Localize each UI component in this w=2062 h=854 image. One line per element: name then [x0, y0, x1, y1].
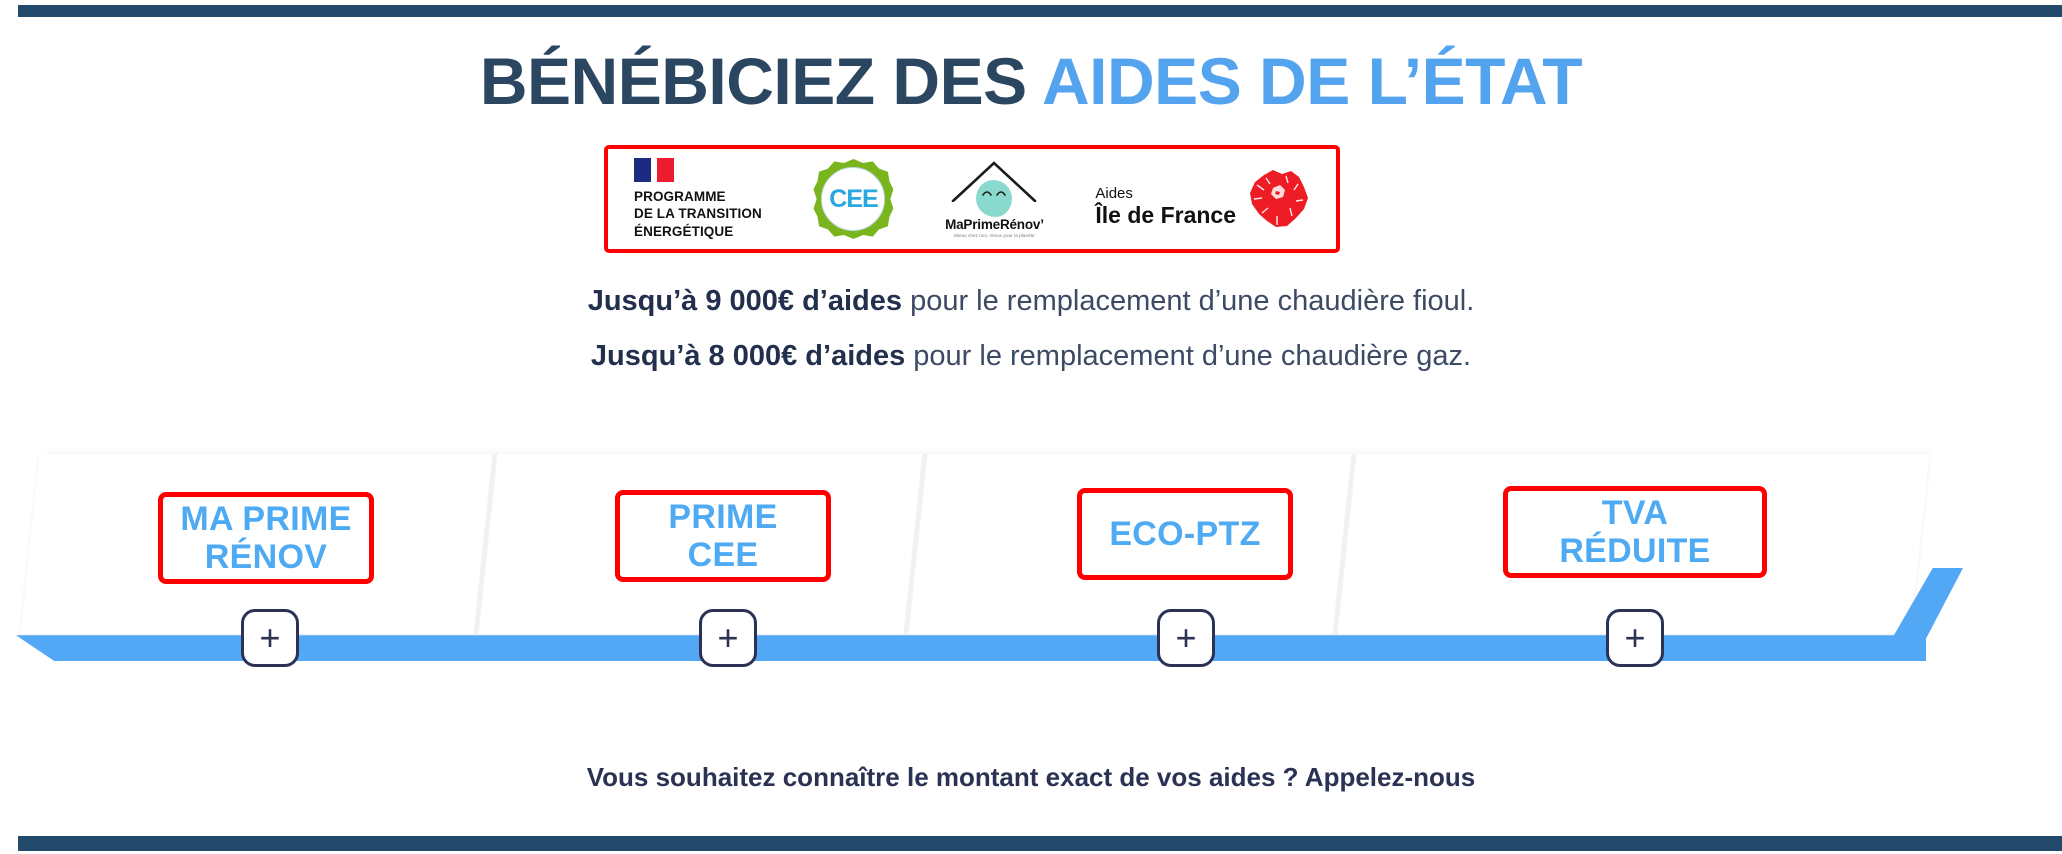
page-title-dark: BÉNÉBICIEZ DES — [480, 44, 1042, 118]
aid-card-ma-prime-renov[interactable]: MA PRIME RÉNOV — [158, 492, 374, 584]
plus-icon: + — [259, 620, 280, 656]
logo-programme-transition-energetique: PROGRAMME DE LA TRANSITION ÉNERGÉTIQUE — [634, 158, 762, 239]
aid-card-prime-cee[interactable]: PRIME CEE — [615, 490, 831, 582]
aid-line-fioul: Jusqu’à 9 000€ d’aides pour le remplacem… — [0, 285, 2062, 318]
logo-maprimerenov-name: MaPrimeRénov’ — [945, 217, 1044, 232]
aid-card-eco-ptz[interactable]: ECO-PTZ — [1077, 488, 1293, 580]
logo-maprimerenov-tagline: Mieux chez moi, mieux pour la planète — [954, 233, 1035, 238]
top-navy-rule — [18, 5, 2062, 17]
logo-idf-big: Île de France — [1095, 203, 1236, 228]
logo-programme-line2: DE LA TRANSITION — [634, 205, 762, 222]
logo-programme-text: PROGRAMME DE LA TRANSITION ÉNERGÉTIQUE — [634, 188, 762, 239]
plus-icon: + — [1175, 620, 1196, 656]
logo-idf-small: Aides — [1095, 186, 1236, 203]
page-title: BÉNÉBICIEZ DES AIDES DE L’ÉTAT — [0, 43, 2062, 119]
aid-card-prime-cee-label: PRIME CEE — [634, 498, 812, 574]
cee-badge-icon: CEE — [813, 159, 893, 239]
plus-icon: + — [717, 620, 738, 656]
french-flag-icon — [634, 158, 674, 182]
aid-card-prime-cee-expand-button[interactable]: + — [699, 609, 757, 667]
logo-aides-ile-de-france: Aides Île de France — [1095, 168, 1310, 230]
logo-cee: CEE — [813, 159, 893, 239]
aid-card-ma-prime-renov-expand-button[interactable]: + — [241, 609, 299, 667]
aid-line-gaz-amount: Jusqu’à 8 000€ d’aides — [591, 340, 905, 372]
aid-card-tva-reduite-label: TVA RÉDUITE — [1522, 494, 1748, 570]
ile-de-france-map-icon — [1246, 168, 1310, 230]
bottom-navy-rule — [18, 836, 2062, 851]
logo-maprimerenov: MaPrimeRénov’ Mieux chez moi, mieux pour… — [945, 160, 1044, 238]
aid-card-eco-ptz-expand-button[interactable]: + — [1157, 609, 1215, 667]
page-title-light: AIDES DE L’ÉTAT — [1042, 44, 1582, 118]
aid-card-ma-prime-renov-label: MA PRIME RÉNOV — [177, 500, 355, 576]
aid-line-fioul-rest: pour le remplacement d’une chaudière fio… — [902, 285, 1474, 317]
maprimerenov-house-icon — [951, 160, 1037, 214]
aid-card-eco-ptz-label: ECO-PTZ — [1109, 515, 1260, 553]
aid-line-gaz-rest: pour le remplacement d’une chaudière gaz… — [905, 340, 1471, 372]
page-root: BÉNÉBICIEZ DES AIDES DE L’ÉTAT PROGRAMME… — [0, 0, 2062, 854]
logo-cee-label: CEE — [829, 185, 877, 214]
logo-programme-line3: ÉNERGÉTIQUE — [634, 223, 762, 240]
aid-line-gaz: Jusqu’à 8 000€ d’aides pour le remplacem… — [0, 340, 2062, 373]
aid-line-fioul-amount: Jusqu’à 9 000€ d’aides — [588, 285, 902, 317]
plus-icon: + — [1624, 620, 1645, 656]
footer-call-text: Vous souhaitez connaître le montant exac… — [0, 762, 2062, 793]
logo-programme-line1: PROGRAMME — [634, 188, 762, 205]
aid-card-tva-reduite[interactable]: TVA RÉDUITE — [1503, 486, 1767, 578]
aid-cards-panel: MA PRIME RÉNOV + PRIME CEE + ECO-PTZ + T… — [0, 440, 2062, 665]
aid-card-tva-reduite-expand-button[interactable]: + — [1606, 609, 1664, 667]
partner-logo-strip: PROGRAMME DE LA TRANSITION ÉNERGÉTIQUE C… — [604, 145, 1340, 253]
